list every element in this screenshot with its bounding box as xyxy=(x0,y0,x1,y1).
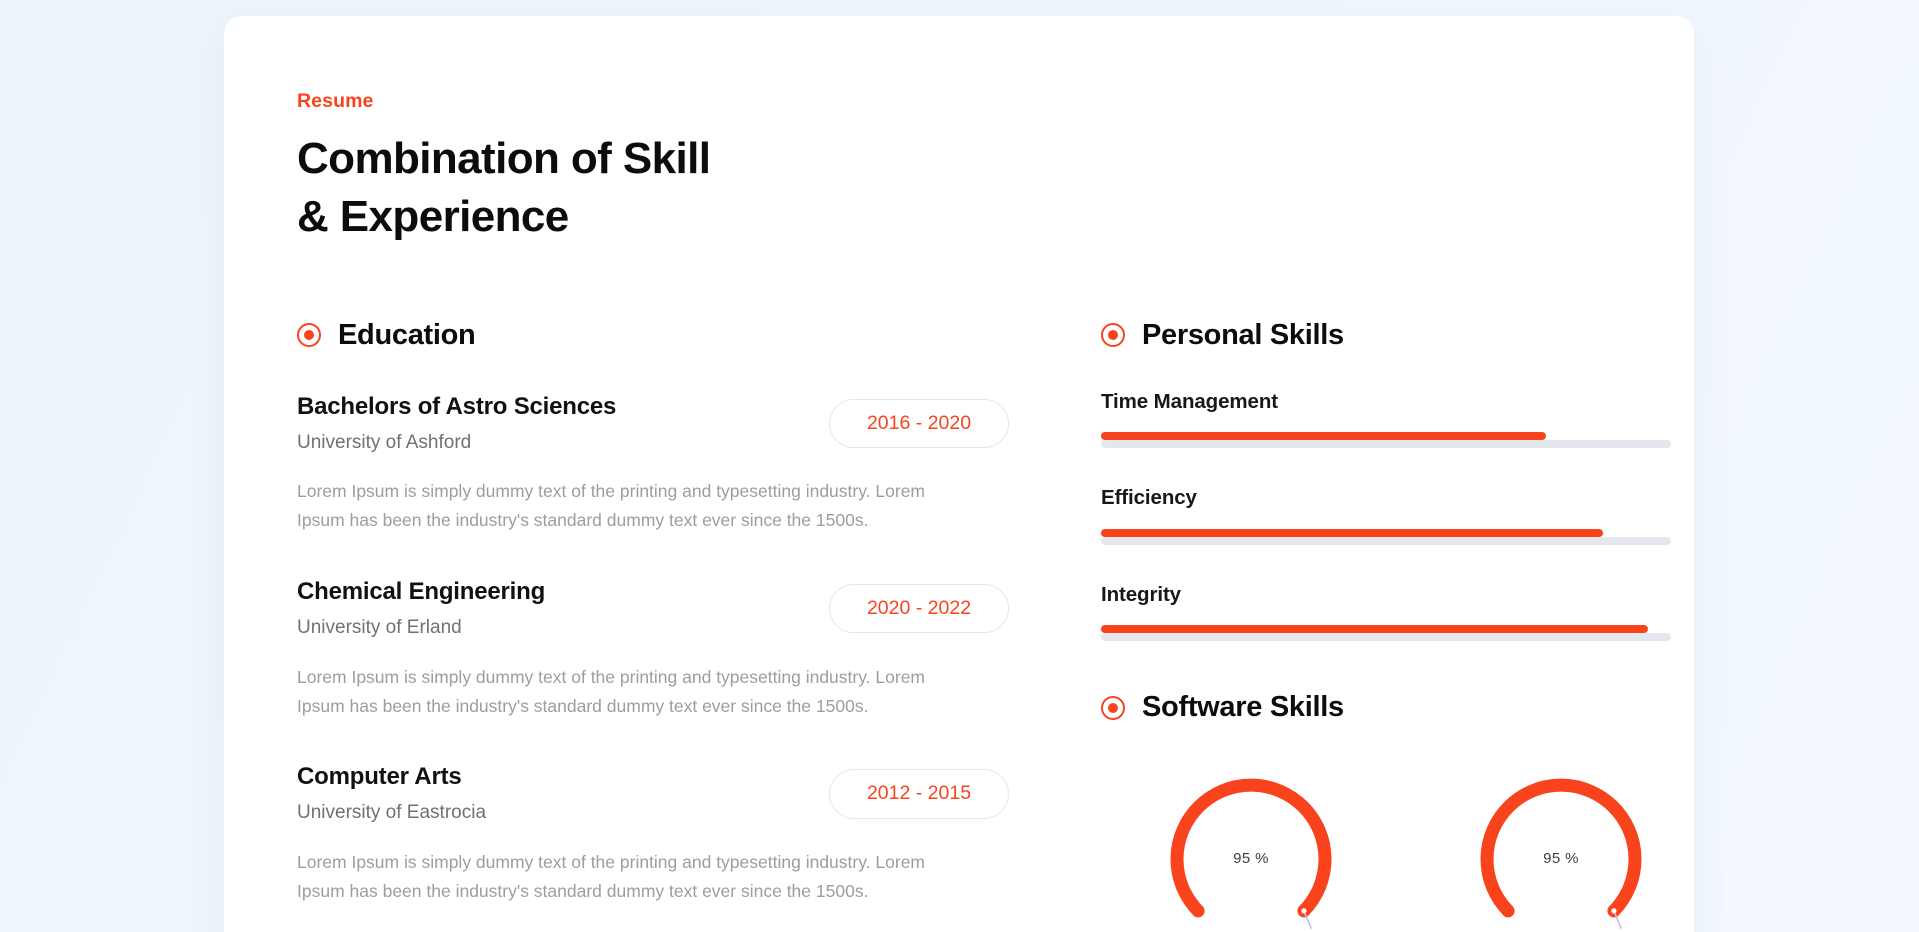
skill-progress-track xyxy=(1101,440,1671,448)
personal-skills-section-title: Personal Skills xyxy=(1142,321,1344,350)
education-entry-header: Computer Arts University of Eastrocia 20… xyxy=(297,762,1009,826)
education-section-header: Education xyxy=(297,321,1009,350)
education-date-badge[interactable]: 2012 - 2015 xyxy=(829,769,1009,819)
target-dot-icon xyxy=(297,323,321,347)
education-degree: Bachelors of Astro Sciences xyxy=(297,392,616,422)
page-title-line-1: Combination of Skill xyxy=(297,134,710,183)
skill-progress-bar xyxy=(1101,529,1671,545)
education-entry-text: Bachelors of Astro Sciences University o… xyxy=(297,392,616,456)
education-school: University of Ashford xyxy=(297,431,616,456)
resume-card: Resume Combination of Skill & Experience… xyxy=(224,16,1694,932)
software-skills-section-header: Software Skills xyxy=(1101,693,1671,722)
target-dot-icon xyxy=(1101,323,1125,347)
education-date-badge[interactable]: 2020 - 2022 xyxy=(829,584,1009,634)
gauge-value-label: 95 % xyxy=(1161,768,1341,932)
skill-item: Time Management xyxy=(1101,392,1671,449)
skill-progress-fill xyxy=(1101,625,1648,633)
page-title: Combination of Skill & Experience xyxy=(297,130,1694,247)
personal-skills-section-header: Personal Skills xyxy=(1101,321,1671,350)
page-header: Resume Combination of Skill & Experience xyxy=(297,92,1694,247)
gauge-chart: 95 % xyxy=(1471,768,1651,932)
education-column: Education Bachelors of Astro Sciences Un… xyxy=(297,321,1009,932)
education-description: Lorem Ipsum is simply dummy text of the … xyxy=(297,663,962,721)
card-content: Resume Combination of Skill & Experience… xyxy=(224,16,1694,932)
skill-label: Efficiency xyxy=(1101,488,1671,509)
education-section-title: Education xyxy=(338,321,475,350)
skill-label: Time Management xyxy=(1101,392,1671,413)
education-entry: Bachelors of Astro Sciences University o… xyxy=(297,392,1009,535)
software-skills-gauges: 95 % 95 % xyxy=(1101,768,1671,932)
education-degree: Computer Arts xyxy=(297,762,486,792)
skill-progress-bar xyxy=(1101,625,1671,641)
content-columns: Education Bachelors of Astro Sciences Un… xyxy=(297,321,1694,932)
skill-item: Efficiency xyxy=(1101,488,1671,545)
education-entry-text: Chemical Engineering University of Erlan… xyxy=(297,577,545,641)
education-degree: Chemical Engineering xyxy=(297,577,545,607)
education-entry: Chemical Engineering University of Erlan… xyxy=(297,577,1009,720)
page-title-line-2: & Experience xyxy=(297,192,569,241)
education-date-badge[interactable]: 2016 - 2020 xyxy=(829,399,1009,449)
education-entry-header: Bachelors of Astro Sciences University o… xyxy=(297,392,1009,456)
software-skills-section-title: Software Skills xyxy=(1142,693,1344,722)
skill-progress-fill xyxy=(1101,529,1603,537)
personal-skills-list: Time Management Efficiency xyxy=(1101,392,1671,642)
gauge-value-label: 95 % xyxy=(1471,768,1651,932)
target-dot-icon xyxy=(1101,696,1125,720)
education-description: Lorem Ipsum is simply dummy text of the … xyxy=(297,848,962,906)
skill-progress-track xyxy=(1101,633,1671,641)
education-entry: Computer Arts University of Eastrocia 20… xyxy=(297,762,1009,905)
skill-progress-track xyxy=(1101,537,1671,545)
skill-progress-bar xyxy=(1101,432,1671,448)
gauge-chart: 95 % xyxy=(1161,768,1341,932)
page-root: Resume Combination of Skill & Experience… xyxy=(0,0,1919,932)
education-description: Lorem Ipsum is simply dummy text of the … xyxy=(297,477,962,535)
education-entry-header: Chemical Engineering University of Erlan… xyxy=(297,577,1009,641)
skills-column: Personal Skills Time Management Efficien… xyxy=(1101,321,1671,932)
education-school: University of Eastrocia xyxy=(297,801,486,826)
education-entry-text: Computer Arts University of Eastrocia xyxy=(297,762,486,826)
skill-progress-fill xyxy=(1101,432,1546,440)
education-school: University of Erland xyxy=(297,616,545,641)
eyebrow-label: Resume xyxy=(297,92,1694,112)
skill-item: Integrity xyxy=(1101,585,1671,642)
skill-label: Integrity xyxy=(1101,585,1671,606)
